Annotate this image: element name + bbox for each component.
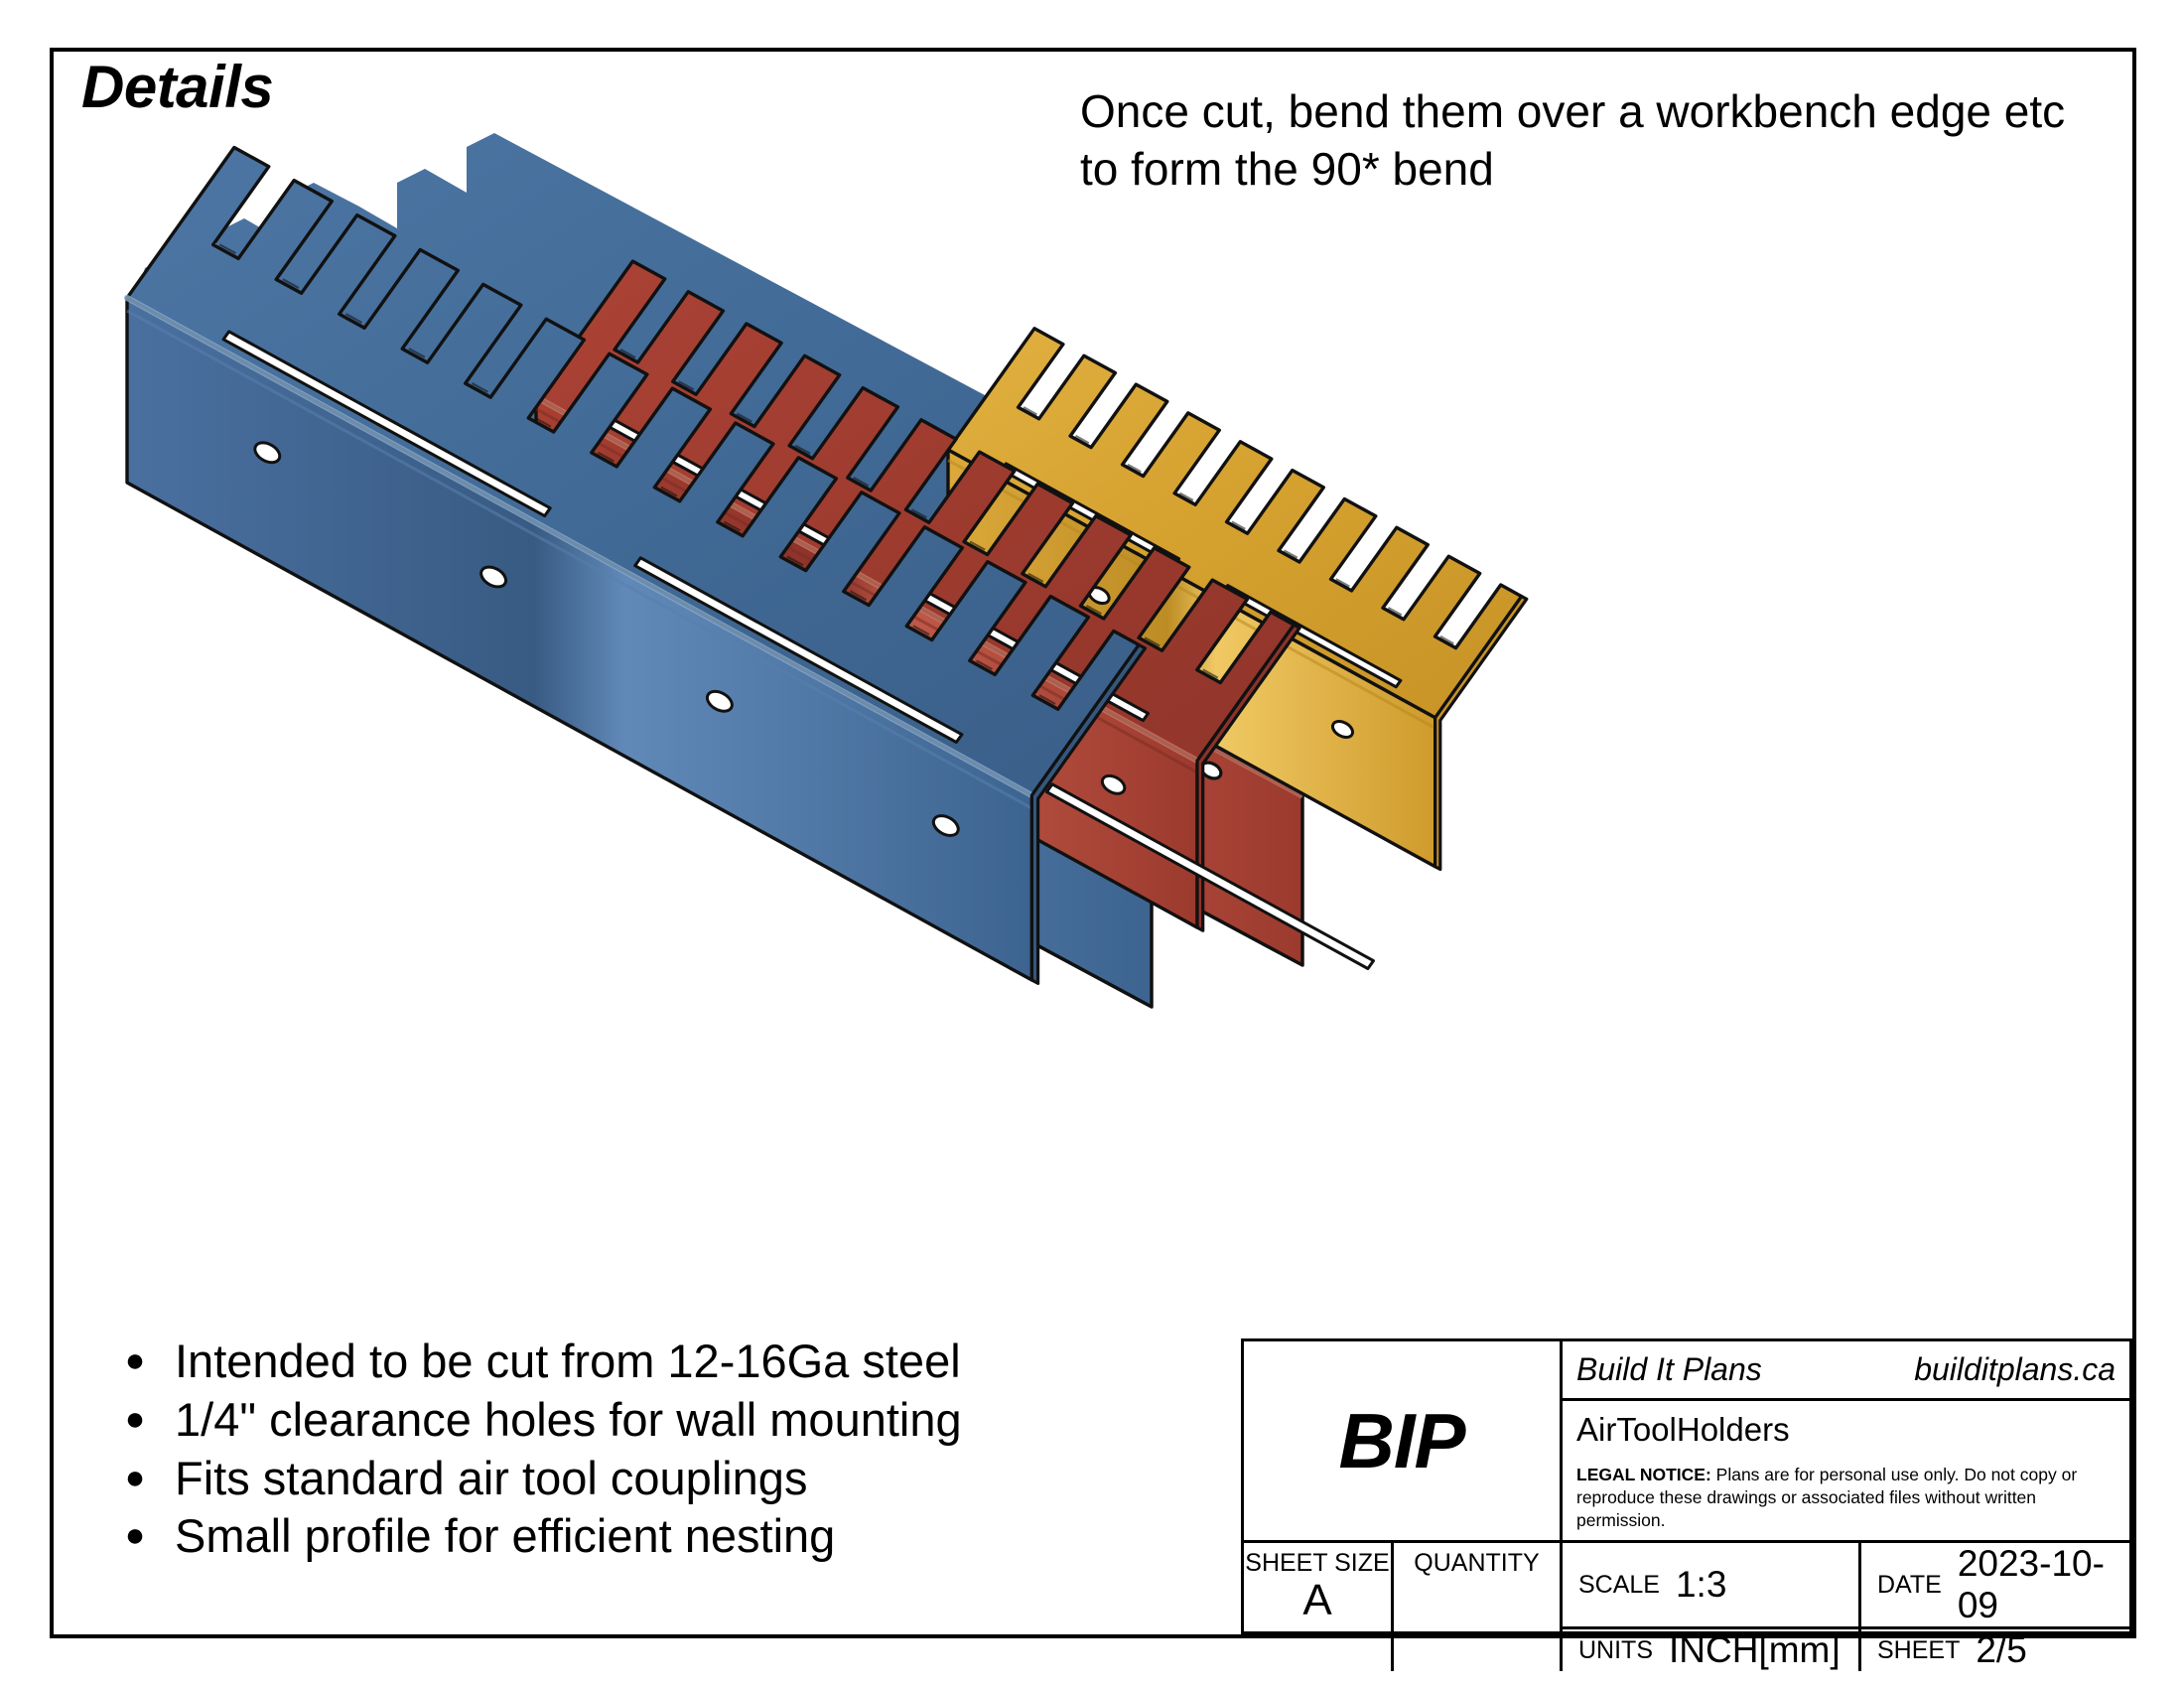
date-label: DATE [1877,1571,1942,1600]
part-name: AirToolHolders [1576,1411,2116,1449]
bullet-marker-icon: ● [95,1518,175,1552]
logo-cell: BIP [1244,1341,1563,1540]
title-block-lower: SHEET SIZE A QUANTITY SCALE 1:3 DATE 202… [1244,1543,2129,1671]
list-item: ● Intended to be cut from 12-16Ga steel [95,1336,1227,1386]
sheet-number-cell: SHEET 2/5 [1861,1629,2129,1671]
bullet-text: Fits standard air tool couplings [175,1454,807,1503]
bullet-marker-icon: ● [95,1402,175,1436]
list-item: ● Small profile for efficient nesting [95,1511,1227,1561]
metadata-cells: SCALE 1:3 DATE 2023-10-09 UNITS INCH[mm]… [1563,1543,2129,1671]
drawing-sheet: Details Once cut, bend them over a workb… [0,0,2184,1688]
title-block: BIP Build It Plans builditplans.ca AirTo… [1241,1338,2132,1634]
title-block-upper: BIP Build It Plans builditplans.ca AirTo… [1244,1341,2129,1543]
page-title: Details [81,58,273,117]
units-label: UNITS [1578,1636,1653,1665]
metadata-row-units-sheet: UNITS INCH[mm] SHEET 2/5 [1563,1629,2129,1671]
bullet-text: Small profile for efficient nesting [175,1511,835,1561]
bend-instruction-note: Once cut, bend them over a workbench edg… [1080,83,2113,198]
brand-row: Build It Plans builditplans.ca [1563,1341,2129,1401]
company-name: Build It Plans [1576,1351,1762,1388]
metadata-row-scale-date: SCALE 1:3 DATE 2023-10-09 [1563,1543,2129,1629]
part-info-cell: AirToolHolders LEGAL NOTICE: Plans are f… [1563,1401,2129,1540]
units-cell: UNITS INCH[mm] [1563,1629,1861,1671]
sheet-size-label: SHEET SIZE [1245,1549,1389,1578]
units-value: INCH[mm] [1669,1629,1841,1671]
bullet-marker-icon: ● [95,1461,175,1494]
bullet-text: 1/4" clearance holes for wall mounting [175,1395,962,1445]
website-url[interactable]: builditplans.ca [1914,1351,2116,1388]
list-item: ● 1/4" clearance holes for wall mounting [95,1395,1227,1445]
sheet-label: SHEET [1877,1636,1960,1665]
bullet-marker-icon: ● [95,1343,175,1377]
list-item: ● Fits standard air tool couplings [95,1454,1227,1503]
quantity-cell: QUANTITY [1394,1543,1563,1671]
legal-notice: LEGAL NOTICE: Plans are for personal use… [1576,1464,2119,1532]
date-cell: DATE 2023-10-09 [1861,1543,2129,1626]
legal-notice-label: LEGAL NOTICE: [1576,1465,1711,1484]
sheet-size-cell: SHEET SIZE A [1244,1543,1394,1671]
sheet-size-value: A [1302,1578,1331,1623]
bullet-text: Intended to be cut from 12-16Ga steel [175,1336,961,1386]
date-value: 2023-10-09 [1958,1543,2129,1626]
title-block-info: Build It Plans builditplans.ca AirToolHo… [1563,1341,2129,1540]
bip-logo: BIP [1338,1396,1464,1486]
scale-cell: SCALE 1:3 [1563,1543,1861,1626]
scale-label: SCALE [1578,1571,1660,1600]
feature-bullet-list: ● Intended to be cut from 12-16Ga steel … [95,1336,1227,1570]
sheet-value: 2/5 [1976,1629,2026,1671]
scale-value: 1:3 [1676,1564,1726,1606]
quantity-label: QUANTITY [1414,1549,1539,1578]
